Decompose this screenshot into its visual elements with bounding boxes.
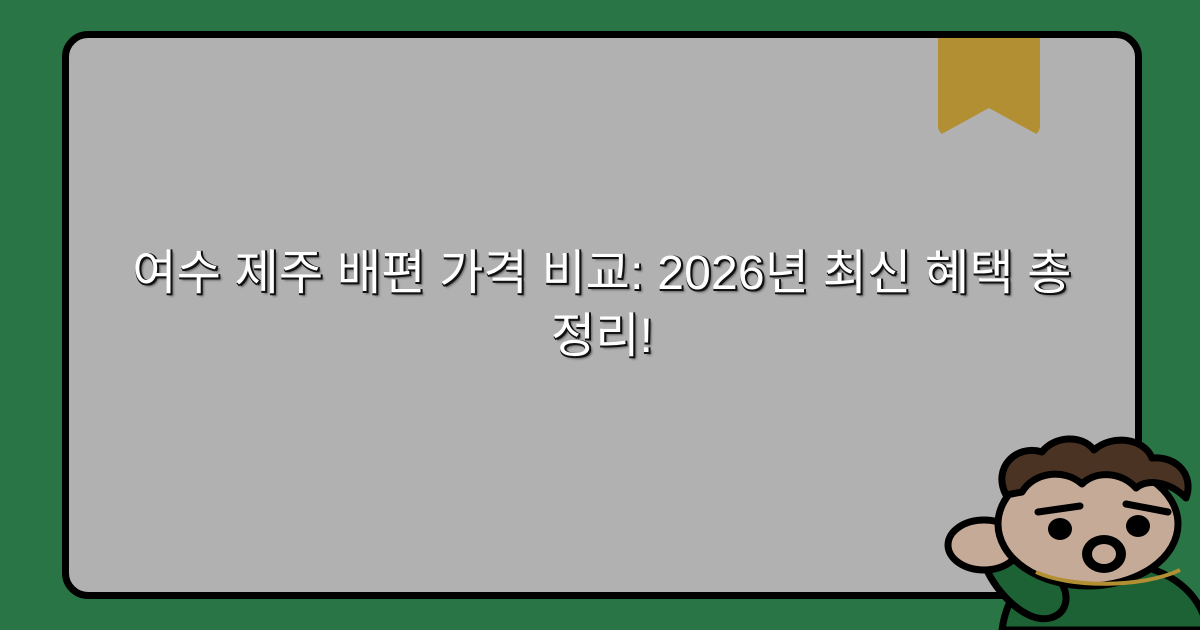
thumbnail-canvas: 여수 제주 배편 가격 비교: 2026년 최신 혜택 총정리! <box>0 0 1200 630</box>
character-eye-right <box>1126 515 1150 537</box>
bookmark-ribbon-icon <box>938 36 1040 136</box>
page-title: 여수 제주 배편 가격 비교: 2026년 최신 혜택 총정리! <box>127 242 1077 369</box>
cartoon-person-waving-icon <box>930 432 1200 630</box>
character-eye-left <box>1048 518 1072 540</box>
character-mouth-inner <box>1092 544 1116 564</box>
